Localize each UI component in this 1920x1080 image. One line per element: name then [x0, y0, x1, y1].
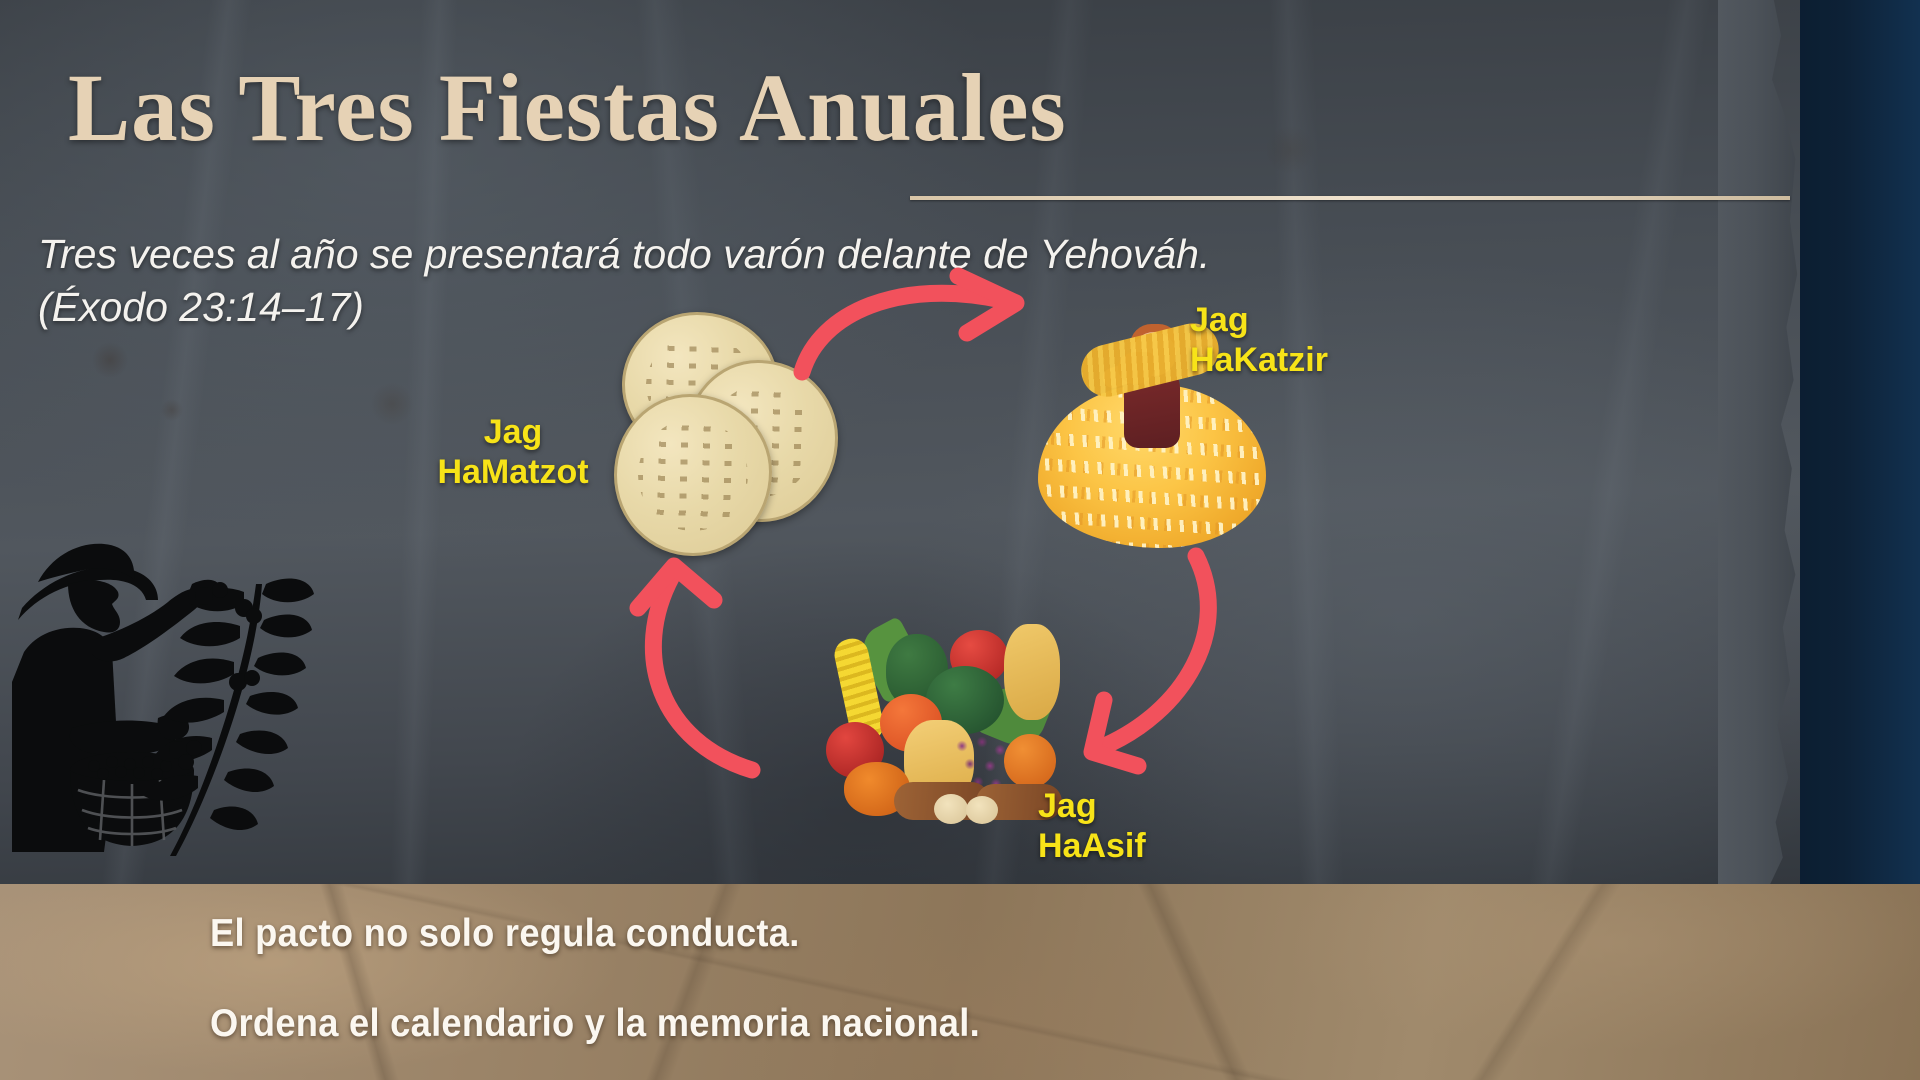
autumn-produce-icon [808, 604, 1058, 826]
subtitle-verse: Tres veces al año se presentará todo var… [38, 231, 1210, 277]
festival-label-matzot: Jag HaMatzot [418, 412, 608, 492]
page-title: Las Tres Fiestas Anuales [68, 52, 1067, 163]
festival-label-katzir: Jag HaKatzir [1190, 300, 1390, 380]
festival-label-asif: Jag HaAsif [1038, 786, 1228, 866]
title-underline-rule [910, 196, 1790, 200]
caption-line-1: El pacto no solo regula conducta. [210, 912, 800, 956]
farmer-harvesting-silhouette-icon [8, 522, 314, 872]
matzot-bread-icon [608, 312, 836, 562]
slide-canvas: Las Tres Fiestas Anuales Tres veces al a… [0, 0, 1920, 1080]
caption-line-2: Ordena el calendario y la memoria nacion… [210, 1002, 980, 1046]
